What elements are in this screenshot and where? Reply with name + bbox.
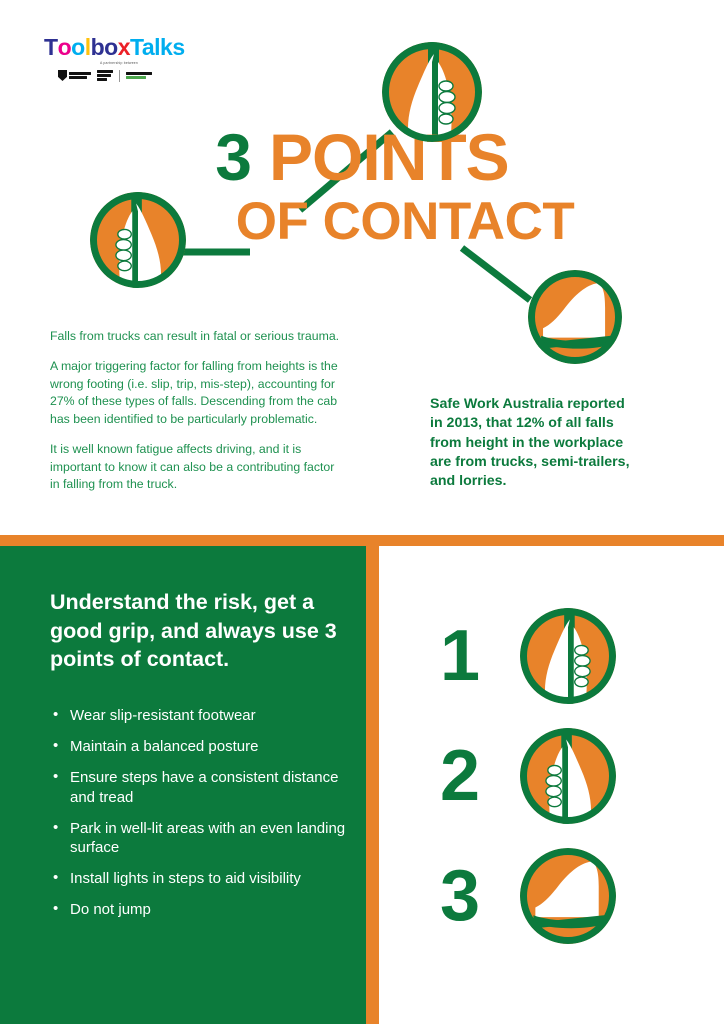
work-boot-icon — [528, 270, 622, 364]
partner-logos — [44, 69, 194, 82]
intro-paragraph: It is well known fatigue affects driving… — [50, 441, 342, 493]
acrs-logo — [97, 69, 113, 82]
hand-grip-rail-mirrored-icon — [90, 192, 186, 288]
logo-talks: Talks — [130, 36, 185, 59]
icon-ring — [528, 270, 622, 364]
step-number: 3 — [400, 860, 520, 932]
list-item: Ensure steps have a consistent distance … — [53, 768, 353, 806]
advice-heading: Understand the risk, get a good grip, an… — [50, 588, 342, 674]
monash-wordmark — [69, 72, 91, 79]
step-row-2: 2 — [400, 728, 616, 824]
logo-letter-b: b — [91, 36, 105, 59]
step-number: 1 — [400, 620, 520, 692]
title-number: 3 — [215, 120, 251, 194]
logo-wordmark: ToolboxTalks — [44, 36, 194, 59]
step-row-1: 1 — [400, 608, 616, 704]
hand-grip-rail-icon — [520, 608, 616, 704]
partner-divider — [119, 70, 120, 82]
list-item: Park in well-lit areas with an even land… — [53, 819, 353, 857]
logo-letter-o3: o — [104, 36, 118, 59]
monash-university-logo — [58, 69, 91, 82]
logo-letter-x: x — [118, 36, 130, 59]
logo-letter-o1: o — [58, 36, 72, 59]
icon-ring — [90, 192, 186, 288]
safe-work-australia-stat: Safe Work Australia reported in 2013, th… — [430, 395, 640, 492]
nhmrc-logo — [126, 69, 152, 82]
icon-ring — [520, 608, 616, 704]
intro-text: Falls from trucks can result in fatal or… — [50, 328, 342, 494]
logo-letter-t: T — [44, 36, 58, 59]
step-row-3: 3 — [400, 848, 616, 944]
icon-ring — [382, 42, 482, 142]
step-number: 2 — [400, 740, 520, 812]
intro-paragraph: A major triggering factor for falling fr… — [50, 358, 342, 428]
vertical-orange-divider — [366, 546, 379, 1024]
list-item: Wear slip-resistant footwear — [53, 706, 353, 725]
hand-grip-rail-icon — [382, 42, 482, 142]
toolbox-talks-logo: ToolboxTalks A partnership between — [44, 36, 194, 82]
stat-text: Safe Work Australia reported in 2013, th… — [430, 395, 640, 492]
acrs-wordmark — [97, 70, 113, 81]
list-item: Maintain a balanced posture — [53, 737, 353, 756]
title-word-points: POINTS — [269, 120, 509, 194]
work-boot-icon — [520, 848, 616, 944]
logo-letter-o2: o — [71, 36, 85, 59]
top-section: ToolboxTalks A partnership between — [0, 0, 724, 535]
icon-ring — [520, 728, 616, 824]
bottom-section: Understand the risk, get a good grip, an… — [0, 546, 724, 1024]
icon-ring — [520, 848, 616, 944]
advice-bullet-list: Wear slip-resistant footwear Maintain a … — [53, 706, 353, 932]
title-line-1: 3POINTS — [0, 126, 724, 189]
monash-shield-icon — [58, 70, 67, 81]
list-item: Install lights in steps to aid visibilit… — [53, 869, 353, 888]
logo-tagline: A partnership between — [44, 61, 194, 65]
intro-paragraph: Falls from trucks can result in fatal or… — [50, 328, 342, 345]
list-item: Do not jump — [53, 900, 353, 919]
orange-divider-band — [0, 535, 724, 546]
nhmrc-wordmark — [126, 72, 152, 79]
hand-grip-rail-mirrored-icon — [520, 728, 616, 824]
